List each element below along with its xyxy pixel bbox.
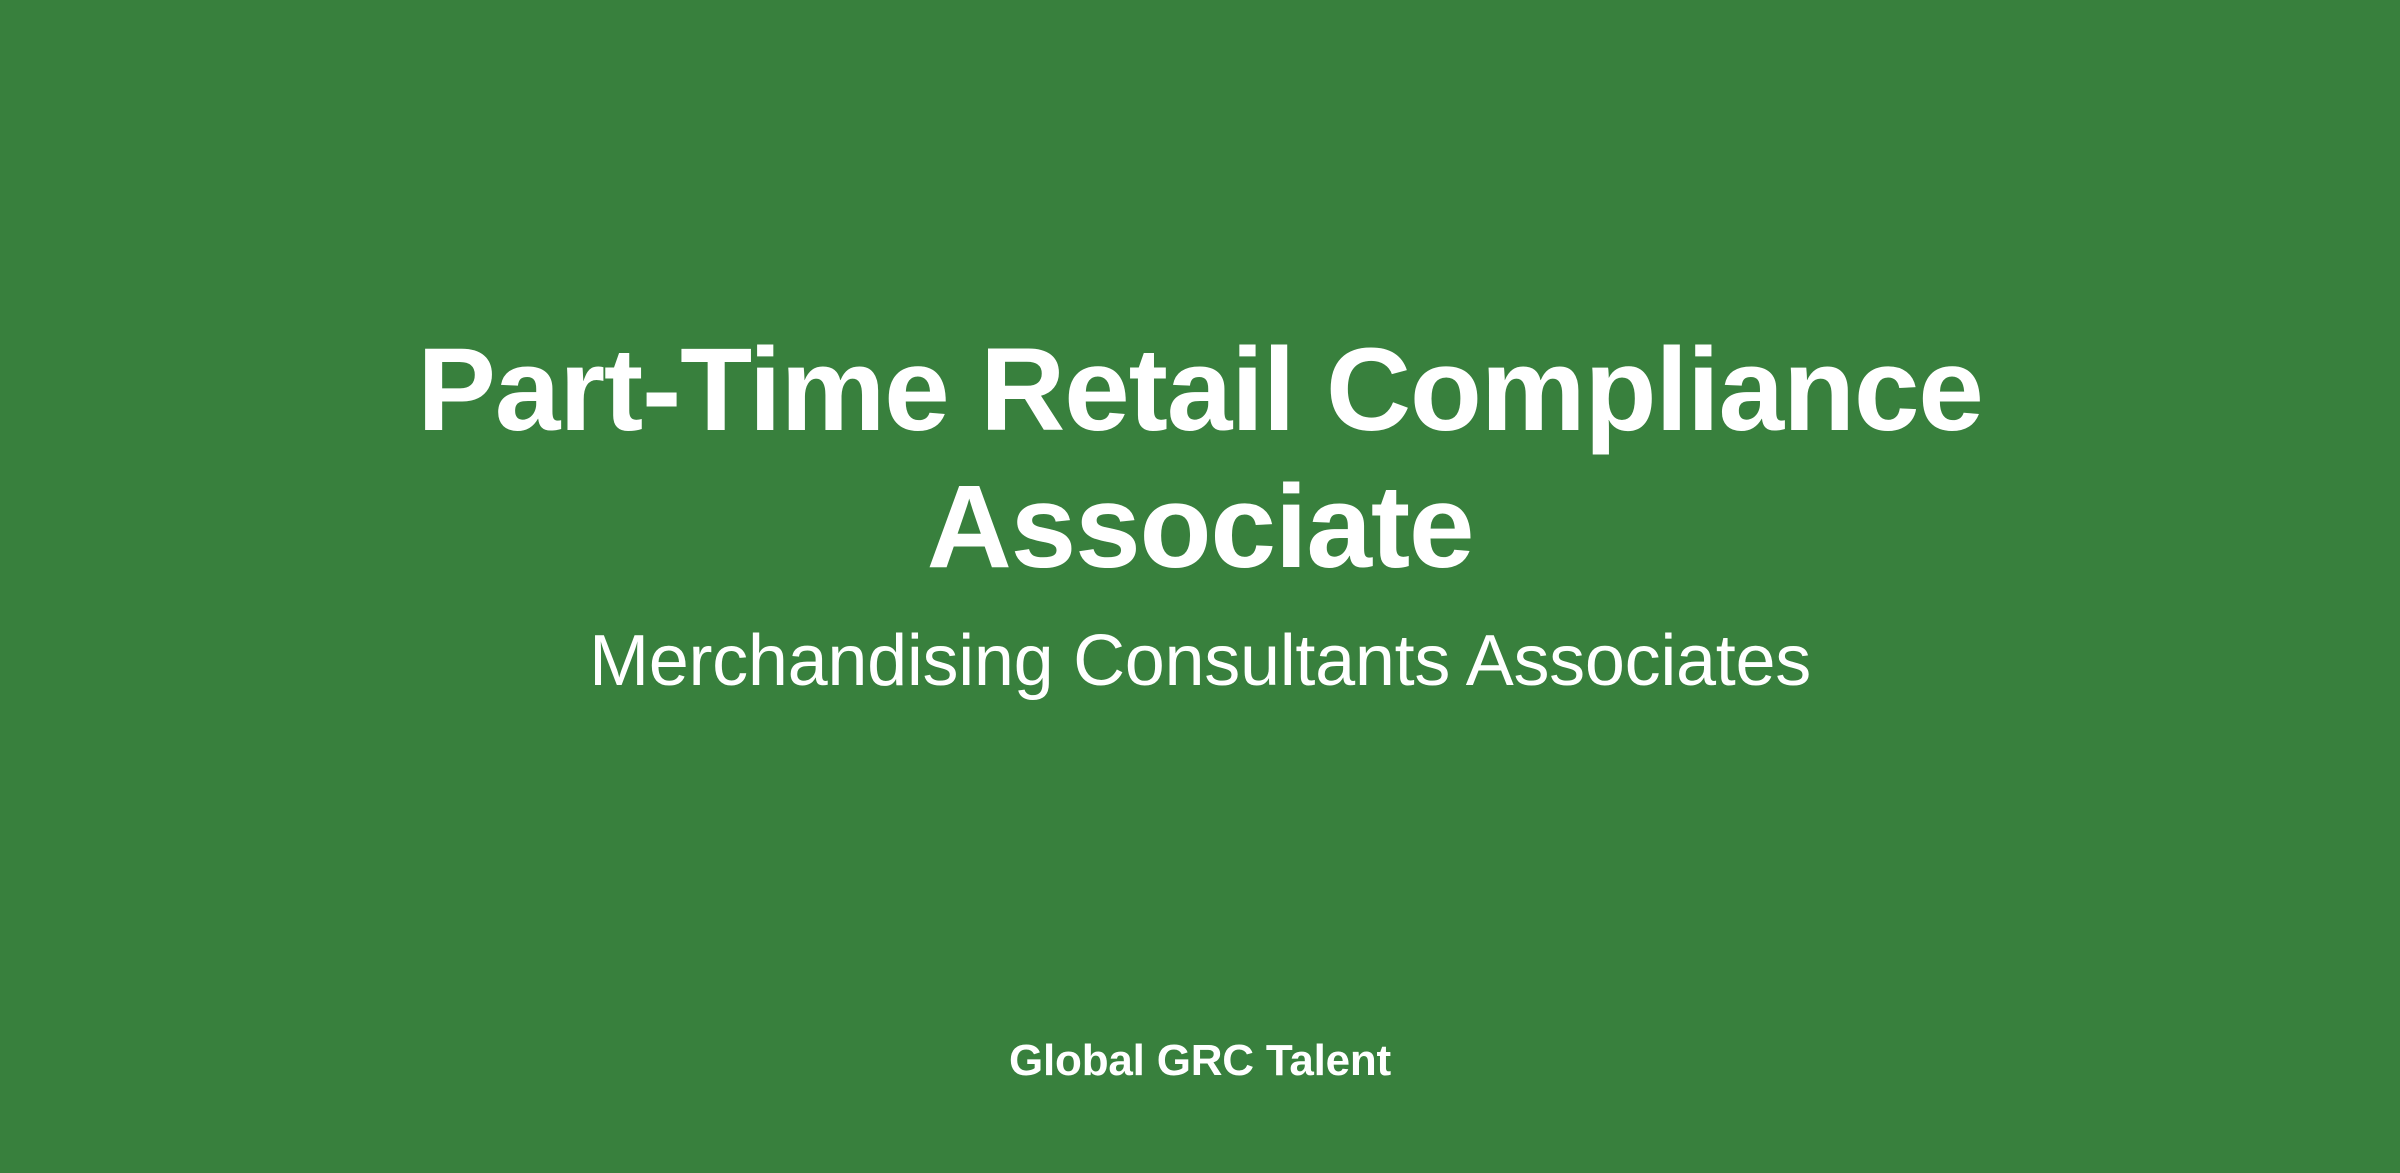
brand-footer: Global GRC Talent — [0, 1035, 2400, 1088]
hero-section: Part-Time Retail Compliance Associate Me… — [0, 0, 2400, 1173]
company-name: Merchandising Consultants Associates — [589, 618, 1811, 704]
brand-name: Global GRC Talent — [1009, 1035, 1391, 1088]
job-title: Part-Time Retail Compliance Associate — [415, 322, 1985, 596]
job-title-card: Part-Time Retail Compliance Associate Me… — [0, 0, 2400, 1173]
